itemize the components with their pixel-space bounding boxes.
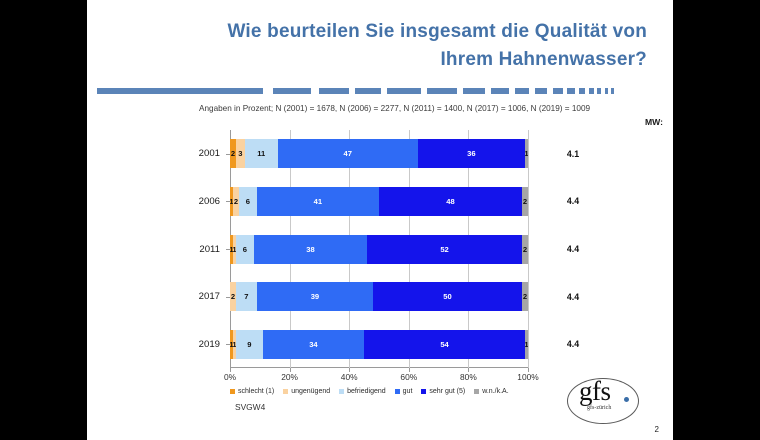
- bar-segment: 50: [373, 282, 522, 311]
- bar-segment-value: 34: [309, 340, 317, 349]
- bar-segment-value: 2: [231, 149, 235, 158]
- legend-label: w.n./k.A.: [482, 388, 508, 395]
- legend-item[interactable]: ungenügend: [283, 388, 330, 395]
- y-axis-category-label: 2019: [178, 330, 220, 359]
- gfs-logo: gfs gfs-zürich: [567, 376, 641, 426]
- rule-dash: [597, 88, 601, 94]
- x-axis-tick-label: 20%: [281, 372, 298, 382]
- legend-swatch-icon: [474, 389, 479, 394]
- slide-stage: Wie beurteilen Sie insgesamt die Qualitä…: [0, 0, 760, 440]
- rule-dash: [605, 88, 608, 94]
- stacked-bar-chart: 0%20%40%60%80%100%20012311473614.1200612…: [230, 130, 528, 368]
- rule-dash: [319, 88, 349, 94]
- rule-dash: [427, 88, 457, 94]
- x-axis-tick-label: 40%: [341, 372, 358, 382]
- legend-label: ungenügend: [291, 388, 330, 395]
- rule-dash: [97, 88, 263, 94]
- y-axis-category-label: 2006: [178, 187, 220, 216]
- bar-segment-value: 38: [306, 245, 314, 254]
- bar-segment: 48: [379, 187, 522, 216]
- legend-swatch-icon: [283, 389, 288, 394]
- logo-wordmark: gfs: [579, 378, 611, 405]
- bar-segment: 1: [525, 330, 528, 359]
- bar-segment-value: 6: [246, 197, 250, 206]
- rule-dash: [567, 88, 575, 94]
- bar-segment-value: 2: [523, 245, 527, 254]
- bar-segment-value: 7: [244, 292, 248, 301]
- legend-swatch-icon: [421, 389, 426, 394]
- source-code-label: SVGW4: [235, 402, 265, 412]
- page-title: Wie beurteilen Sie insgesamt die Qualitä…: [127, 18, 647, 73]
- bar-segment: 34: [263, 330, 364, 359]
- bar-segment-value: 50: [443, 292, 451, 301]
- mean-value: 4.4: [556, 330, 590, 359]
- table-row: 2739502: [230, 282, 528, 311]
- rule-dash: [515, 88, 529, 94]
- slide-canvas: Wie beurteilen Sie insgesamt die Qualitä…: [87, 0, 673, 440]
- mean-value: 4.4: [556, 235, 590, 264]
- mean-value: 4.1: [556, 139, 590, 168]
- bar-segment-value: 47: [343, 149, 351, 158]
- bar-segment-value: 54: [440, 340, 448, 349]
- table-row: 231147361: [230, 139, 528, 168]
- bar-segment: 2: [522, 187, 528, 216]
- y-axis-category-label: 2001: [178, 139, 220, 168]
- bar-segment-value: 3: [238, 149, 242, 158]
- bar-segment-value: 39: [311, 292, 319, 301]
- title-divider-rule: [97, 88, 669, 94]
- bar-segment: 54: [364, 330, 525, 359]
- title-line-1: Wie beurteilen Sie insgesamt die Qualitä…: [227, 21, 647, 42]
- rule-dash: [273, 88, 311, 94]
- bar-segment: 2: [522, 235, 528, 264]
- title-line-2: Ihrem Hahnenwasser?: [127, 46, 647, 74]
- bar-segment: 47: [278, 139, 418, 168]
- legend-item[interactable]: w.n./k.A.: [474, 388, 508, 395]
- bar-segment-value: 41: [314, 197, 322, 206]
- bar-segment: 9: [236, 330, 263, 359]
- legend-label: sehr gut (5): [429, 388, 465, 395]
- logo-subtext: gfs-zürich: [587, 405, 611, 411]
- bar-segment-value: 2: [523, 197, 527, 206]
- bar-segment: 6: [239, 187, 257, 216]
- bar-segment: 6: [236, 235, 254, 264]
- bar-segment-value: 1: [525, 149, 528, 158]
- legend-item[interactable]: schlecht (1): [230, 388, 274, 395]
- bar-segment: 52: [367, 235, 522, 264]
- rule-dash: [553, 88, 563, 94]
- grid-line: [528, 130, 529, 368]
- legend-label: schlecht (1): [238, 388, 274, 395]
- rule-dash: [589, 88, 594, 94]
- bar-segment-value: 11: [257, 149, 265, 158]
- bar-segment-value: 6: [243, 245, 247, 254]
- legend-label: befriedigend: [347, 388, 386, 395]
- x-axis-tick-label: 0%: [224, 372, 236, 382]
- bar-segment-value: 2: [231, 292, 235, 301]
- page-number: 2: [655, 425, 659, 434]
- rule-dash: [463, 88, 485, 94]
- rule-dash: [491, 88, 509, 94]
- mean-value: 4.4: [556, 282, 590, 311]
- sample-size-note: Angaben in Prozent; N (2001) = 1678, N (…: [199, 104, 669, 113]
- bar-segment-value: 48: [446, 197, 454, 206]
- rule-dash: [579, 88, 585, 94]
- mean-column-header: MW:: [645, 117, 663, 127]
- legend-label: gut: [403, 388, 413, 395]
- bar-segment: 11: [245, 139, 278, 168]
- bar-segment-value: 1: [525, 340, 528, 349]
- legend-item[interactable]: gut: [395, 388, 413, 395]
- bar-segment: 36: [418, 139, 525, 168]
- bar-segment-value: 52: [440, 245, 448, 254]
- bar-segment-value: 2: [523, 292, 527, 301]
- bar-segment: 3: [236, 139, 245, 168]
- legend-item[interactable]: sehr gut (5): [421, 388, 465, 395]
- chart-legend: schlecht (1)ungenügendbefriedigendgutseh…: [230, 388, 560, 395]
- bar-segment: 41: [257, 187, 379, 216]
- x-axis-tick-label: 80%: [460, 372, 477, 382]
- rule-dash: [535, 88, 547, 94]
- x-axis-tick-label: 100%: [517, 372, 538, 382]
- bar-segment: 39: [257, 282, 373, 311]
- table-row: 11934541: [230, 330, 528, 359]
- bar-segment: 2: [522, 282, 528, 311]
- x-axis-line: [230, 367, 528, 368]
- y-axis-category-label: 2017: [178, 282, 220, 311]
- logo-dot-icon: [624, 397, 629, 402]
- mean-value: 4.4: [556, 187, 590, 216]
- bar-segment-value: 36: [467, 149, 475, 158]
- y-axis-category-label: 2011: [178, 235, 220, 264]
- bar-segment: 1: [525, 139, 528, 168]
- rule-dash: [355, 88, 381, 94]
- legend-swatch-icon: [339, 389, 344, 394]
- bar-segment-value: 9: [247, 340, 251, 349]
- legend-item[interactable]: befriedigend: [339, 388, 386, 395]
- bar-segment: 7: [236, 282, 257, 311]
- rule-dash: [387, 88, 421, 94]
- rule-dash: [611, 88, 614, 94]
- bar-segment: 38: [254, 235, 367, 264]
- legend-swatch-icon: [395, 389, 400, 394]
- bar-segment-value: 2: [234, 197, 238, 206]
- legend-swatch-icon: [230, 389, 235, 394]
- table-row: 12641482: [230, 187, 528, 216]
- table-row: 11638522: [230, 235, 528, 264]
- x-axis-tick-label: 60%: [400, 372, 417, 382]
